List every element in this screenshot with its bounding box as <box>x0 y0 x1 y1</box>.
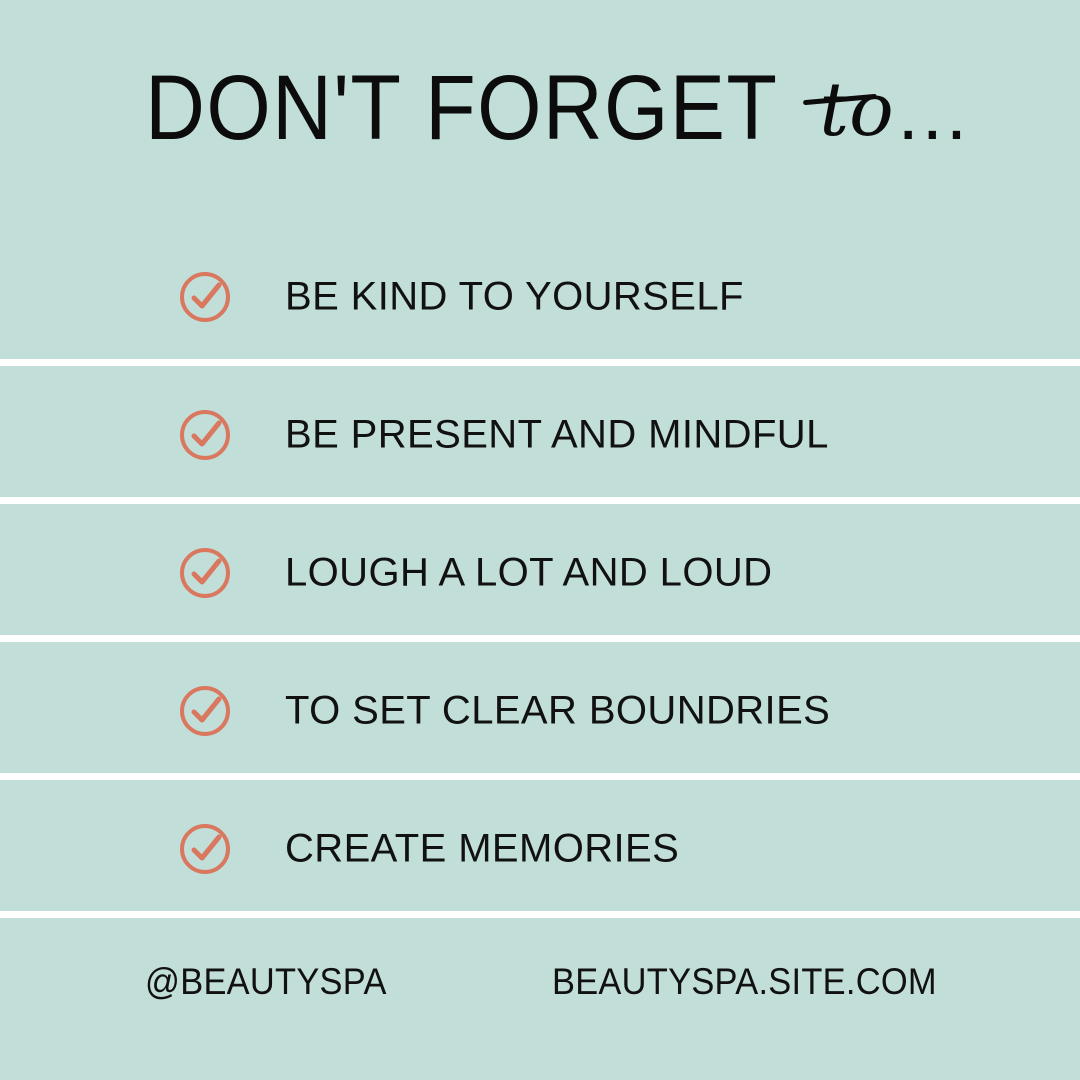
website-url[interactable]: BEAUTYSPA.SITE.COM <box>552 961 937 1003</box>
list-item[interactable]: LOUGH A LOT AND LOUD <box>0 504 1080 642</box>
circle-check-icon <box>178 270 232 324</box>
row-divider <box>0 911 1080 918</box>
list-item-label: BE PRESENT AND MINDFUL <box>285 413 829 458</box>
title-script-text: to <box>819 73 893 147</box>
circle-check-icon <box>178 684 232 738</box>
row-divider <box>0 497 1080 504</box>
row-divider <box>0 635 1080 642</box>
circle-check-icon <box>178 822 232 876</box>
list-item[interactable]: BE KIND TO YOURSELF <box>0 228 1080 366</box>
social-handle[interactable]: @BEAUTYSPA <box>145 961 387 1003</box>
checklist: BE KIND TO YOURSELF BE PRESENT AND MINDF… <box>0 228 1080 918</box>
list-item-label: LOUGH A LOT AND LOUD <box>285 551 772 596</box>
list-item[interactable]: BE PRESENT AND MINDFUL <box>0 366 1080 504</box>
page-title: DON'T FORGET to ... <box>0 62 1080 192</box>
list-item[interactable]: TO SET CLEAR BOUNDRIES <box>0 642 1080 780</box>
row-divider <box>0 359 1080 366</box>
title-main-text: DON'T FORGET <box>145 62 778 154</box>
title-ellipsis: ... <box>898 76 970 152</box>
circle-check-icon <box>178 546 232 600</box>
list-item-label: TO SET CLEAR BOUNDRIES <box>285 689 830 734</box>
list-item[interactable]: CREATE MEMORIES <box>0 780 1080 918</box>
poster-canvas: DON'T FORGET to ... BE KIND TO YOURSELF … <box>0 0 1080 1080</box>
circle-check-icon <box>178 408 232 462</box>
row-divider <box>0 773 1080 780</box>
footer: @BEAUTYSPA BEAUTYSPA.SITE.COM <box>0 921 1080 1080</box>
list-item-label: CREATE MEMORIES <box>285 827 679 872</box>
list-item-label: BE KIND TO YOURSELF <box>285 275 744 320</box>
title-script-word: to <box>819 67 893 153</box>
